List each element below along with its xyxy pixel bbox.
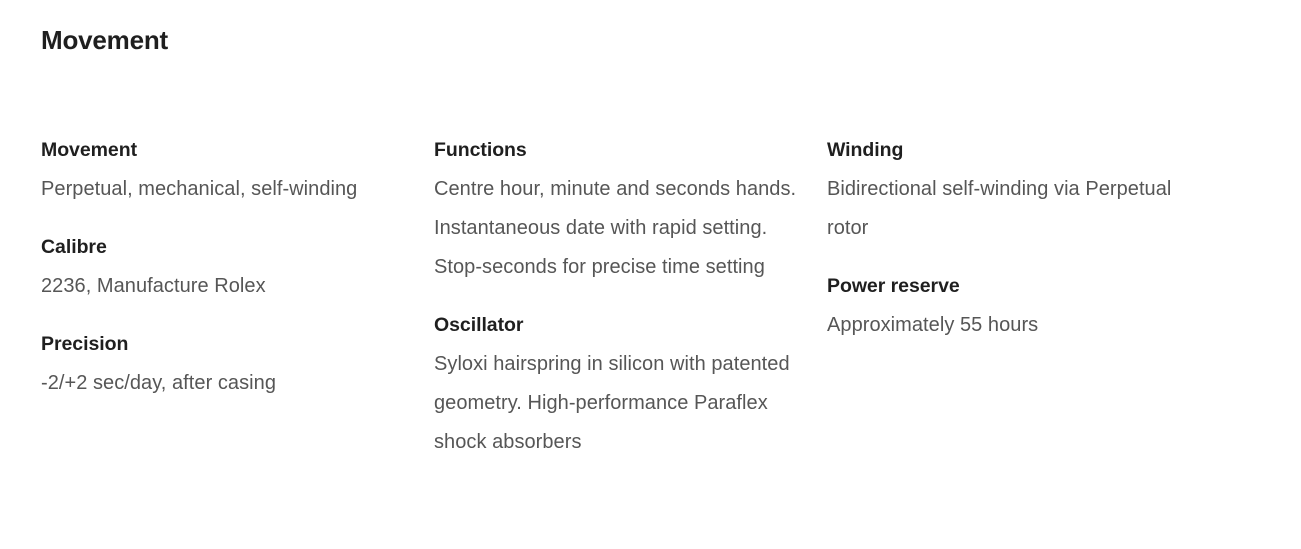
- spec-block-movement: Movement Perpetual, mechanical, self-win…: [41, 131, 406, 209]
- specifications-columns: Movement Perpetual, mechanical, self-win…: [41, 131, 1261, 462]
- spec-label: Power reserve: [827, 267, 1192, 306]
- spec-block-power-reserve: Power reserve Approximately 55 hours: [827, 267, 1192, 345]
- spec-value: Bidirectional self-winding via Perpetual…: [827, 170, 1192, 248]
- spec-column-1: Movement Perpetual, mechanical, self-win…: [41, 131, 434, 403]
- spec-block-precision: Precision -2/+2 sec/day, after casing: [41, 325, 406, 403]
- spec-value: Centre hour, minute and seconds hands. I…: [434, 170, 799, 287]
- spec-value: Syloxi hairspring in silicon with patent…: [434, 345, 799, 462]
- spec-value: 2236, Manufacture Rolex: [41, 267, 406, 306]
- page-title: Movement: [41, 24, 168, 56]
- spec-label: Oscillator: [434, 306, 799, 345]
- spec-column-2: Functions Centre hour, minute and second…: [434, 131, 827, 462]
- spec-block-functions: Functions Centre hour, minute and second…: [434, 131, 799, 287]
- spec-label: Winding: [827, 131, 1192, 170]
- movement-specifications-page: Movement Movement Perpetual, mechanical,…: [0, 0, 1301, 549]
- spec-block-calibre: Calibre 2236, Manufacture Rolex: [41, 228, 406, 306]
- spec-value: Approximately 55 hours: [827, 306, 1192, 345]
- spec-block-winding: Winding Bidirectional self-winding via P…: [827, 131, 1192, 248]
- spec-label: Calibre: [41, 228, 406, 267]
- spec-column-3: Winding Bidirectional self-winding via P…: [827, 131, 1220, 345]
- spec-label: Movement: [41, 131, 406, 170]
- spec-value: Perpetual, mechanical, self-winding: [41, 170, 406, 209]
- spec-label: Functions: [434, 131, 799, 170]
- spec-block-oscillator: Oscillator Syloxi hairspring in silicon …: [434, 306, 799, 462]
- spec-label: Precision: [41, 325, 406, 364]
- spec-value: -2/+2 sec/day, after casing: [41, 364, 406, 403]
